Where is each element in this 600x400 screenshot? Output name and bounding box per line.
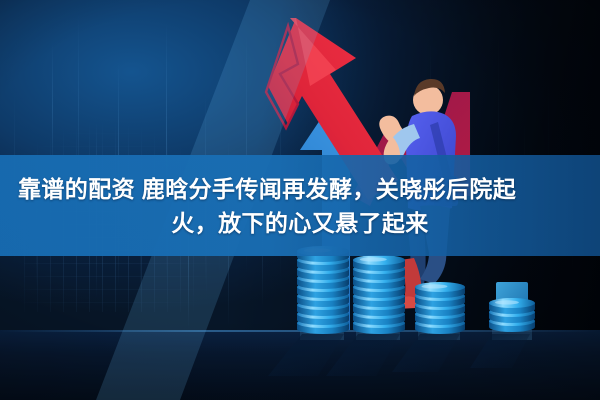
coin-stack-4: [489, 298, 535, 332]
headline-line-1: 靠谱的配资 鹿晗分手传闻再发酵，关晓彤后院起: [8, 172, 592, 206]
coin-stack-2: [353, 255, 405, 334]
coin-stack-1: [297, 246, 349, 334]
news-banner: 靠谱的配资 鹿晗分手传闻再发酵，关晓彤后院起 火，放下的心又悬了起来: [0, 0, 600, 400]
coin-stack-3: [415, 282, 465, 334]
headline-line-2: 火，放下的心又悬了起来: [171, 206, 428, 240]
coin-shadows: [268, 334, 530, 376]
headline-band: 靠谱的配资 鹿晗分手传闻再发酵，关晓彤后院起 火，放下的心又悬了起来: [0, 155, 600, 256]
